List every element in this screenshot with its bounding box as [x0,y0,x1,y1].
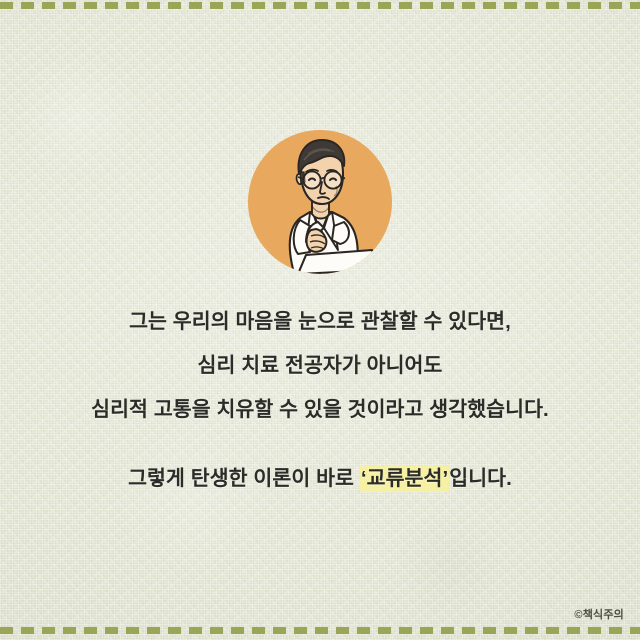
quote-line-2: 심리 치료 전공자가 아니어도 [0,344,640,388]
final-line-suffix: 입니다. [449,467,512,490]
final-line-prefix: 그렇게 탄생한 이론이 바로 [128,467,360,490]
dashed-rule-top [0,2,640,9]
quote-line-3: 심리적 고통을 치유할 수 있을 것이라고 생각했습니다. [0,388,640,432]
copyright-credit: ©책식주의 [574,606,624,622]
highlighted-term: ‘교류분석’ [360,466,449,492]
quote-line-4: 그렇게 탄생한 이론이 바로 ‘교류분석’입니다. [0,457,640,501]
dashed-rule-bottom [0,627,640,634]
paragraph-gap [0,432,640,457]
quote-card: 그는 우리의 마음을 눈으로 관찰할 수 있다면, 심리 치료 전공자가 아니어… [0,0,640,640]
avatar [248,130,392,274]
quote-line-1: 그는 우리의 마음을 눈으로 관찰할 수 있다면, [0,300,640,344]
lecturer-illustration-icon [248,130,392,274]
quote-text-block: 그는 우리의 마음을 눈으로 관찰할 수 있다면, 심리 치료 전공자가 아니어… [0,300,640,501]
